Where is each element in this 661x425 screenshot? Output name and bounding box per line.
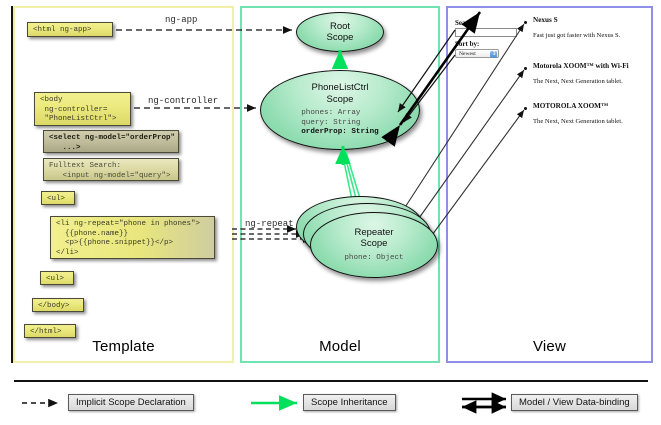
repeater-scope-props: phone: Object xyxy=(344,254,403,263)
prop-phones: phones: Array xyxy=(301,109,360,117)
panel-model: Model xyxy=(240,6,440,363)
legend-divider xyxy=(14,380,648,382)
list-bullet-icon xyxy=(524,67,527,70)
list-bullet-icon xyxy=(524,107,527,110)
prop-orderprop: orderProp: String xyxy=(301,128,378,136)
phone-snippet: The Next, Next Generation tablet. xyxy=(533,78,623,85)
phonelistctrl-scope-props: phones: Arrayquery: StringorderProp: Str… xyxy=(301,109,378,137)
select-tag-box: <select ng-model="orderProp" ...> xyxy=(43,130,179,153)
view-sort-selected-value: Newest xyxy=(459,51,476,57)
html-tag-box: <html ng-app> xyxy=(27,22,113,37)
view-search-label: Search: xyxy=(455,19,478,27)
panel-title-model: Model xyxy=(242,338,438,355)
phonelistctrl-scope-ellipse: PhoneListCtrlScope phones: Arrayquery: S… xyxy=(260,70,420,150)
phonelistctrl-scope-title: PhoneListCtrlScope xyxy=(311,82,368,105)
body-tag-box: <body ng-controller= "PhoneListCtrl"> xyxy=(34,92,131,126)
legend-model-view-data-binding: Model / View Data-binding xyxy=(511,394,638,411)
li-ng-repeat-box: <li ng-repeat="phone in phones"> {{phone… xyxy=(50,216,215,259)
edge-label-ng-controller: ng-controller xyxy=(148,96,218,106)
root-scope-ellipse: RootScope xyxy=(296,12,384,52)
view-sort-select[interactable]: Newest xyxy=(455,49,499,58)
view-sort-label: Sort by: xyxy=(455,40,479,48)
chevron-updown-icon xyxy=(490,51,497,58)
legend-scope-inheritance: Scope Inheritance xyxy=(303,394,396,411)
phone-title[interactable]: Motorola XOOM™ with Wi-Fi xyxy=(533,62,629,70)
phone-snippet: Fast just got faster with Nexus S. xyxy=(533,32,620,39)
fulltext-search-box: Fulltext Search: <input ng-model="query"… xyxy=(43,158,179,181)
panel-title-template: Template xyxy=(15,338,232,355)
panel-view: View xyxy=(446,6,653,363)
html-close-box: </html> xyxy=(24,324,76,338)
edge-label-ng-repeat: ng-repeat xyxy=(245,219,294,229)
phone-snippet: The Next, Next Generation tablet. xyxy=(533,118,623,125)
panel-title-view: View xyxy=(448,338,651,355)
prop-query: query: String xyxy=(301,119,360,127)
legend-marker-double-arrow xyxy=(462,399,506,407)
edge-label-ng-app: ng-app xyxy=(165,15,197,25)
phone-title[interactable]: MOTOROLA XOOM™ xyxy=(533,102,608,110)
repeater-scope-ellipse: RepeaterScope phone: Object xyxy=(310,212,438,278)
ul-open-box: <ul> xyxy=(41,191,75,205)
list-bullet-icon xyxy=(524,21,527,24)
diagram-canvas: Template <html ng-app> <body ng-controll… xyxy=(0,0,661,425)
ul-close-box: <ul> xyxy=(40,271,74,285)
view-search-input[interactable] xyxy=(455,28,517,37)
legend-implicit-scope-declaration: Implicit Scope Declaration xyxy=(68,394,194,411)
root-scope-title: RootScope xyxy=(327,21,354,44)
body-close-box: </body> xyxy=(32,298,84,312)
phone-title[interactable]: Nexus S xyxy=(533,16,558,24)
repeater-scope-title: RepeaterScope xyxy=(354,227,393,250)
